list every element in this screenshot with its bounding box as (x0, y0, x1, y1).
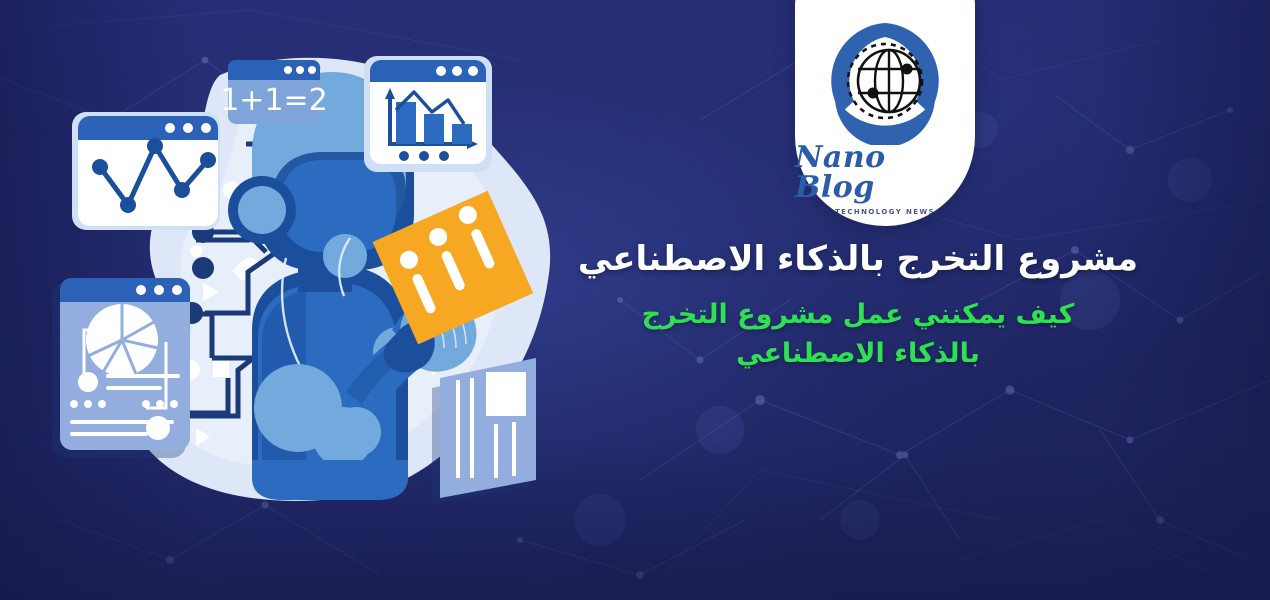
page-title: مشروع التخرج بالذكاء الاصطناعي (528, 238, 1188, 281)
equation-text: 1+1=2 (220, 83, 328, 118)
pie-chart-window (52, 278, 190, 458)
window-dots (136, 285, 182, 295)
page-subtitle: كيف يمكنني عمل مشروع التخرج بالذكاء الاص… (528, 295, 1188, 373)
equation-window: 1+1=2 (220, 60, 328, 124)
window-dots (284, 66, 316, 74)
window-dots (436, 66, 478, 76)
pie-chart-icon (86, 304, 158, 376)
poster-document (432, 358, 536, 504)
logo-card[interactable]: Nano Blog TECHNOLOGY NEWS (795, 0, 975, 226)
banner-root: 1+1=2 (0, 0, 1270, 600)
line-chart-window (72, 112, 220, 230)
logo-tagline: TECHNOLOGY NEWS (835, 208, 935, 216)
logo-wordmark: Nano Blog (795, 143, 975, 203)
window-dots (165, 123, 211, 133)
globe-network-icon (821, 17, 949, 145)
subtitle-line-1: كيف يمكنني عمل مشروع التخرج (642, 299, 1075, 330)
bar-chart-window (364, 56, 492, 172)
hero-illustration: 1+1=2 (0, 0, 600, 600)
headline-block: مشروع التخرج بالذكاء الاصطناعي كيف يمكنن… (528, 238, 1188, 373)
subtitle-line-2: بالذكاء الاصطناعي (736, 338, 980, 369)
